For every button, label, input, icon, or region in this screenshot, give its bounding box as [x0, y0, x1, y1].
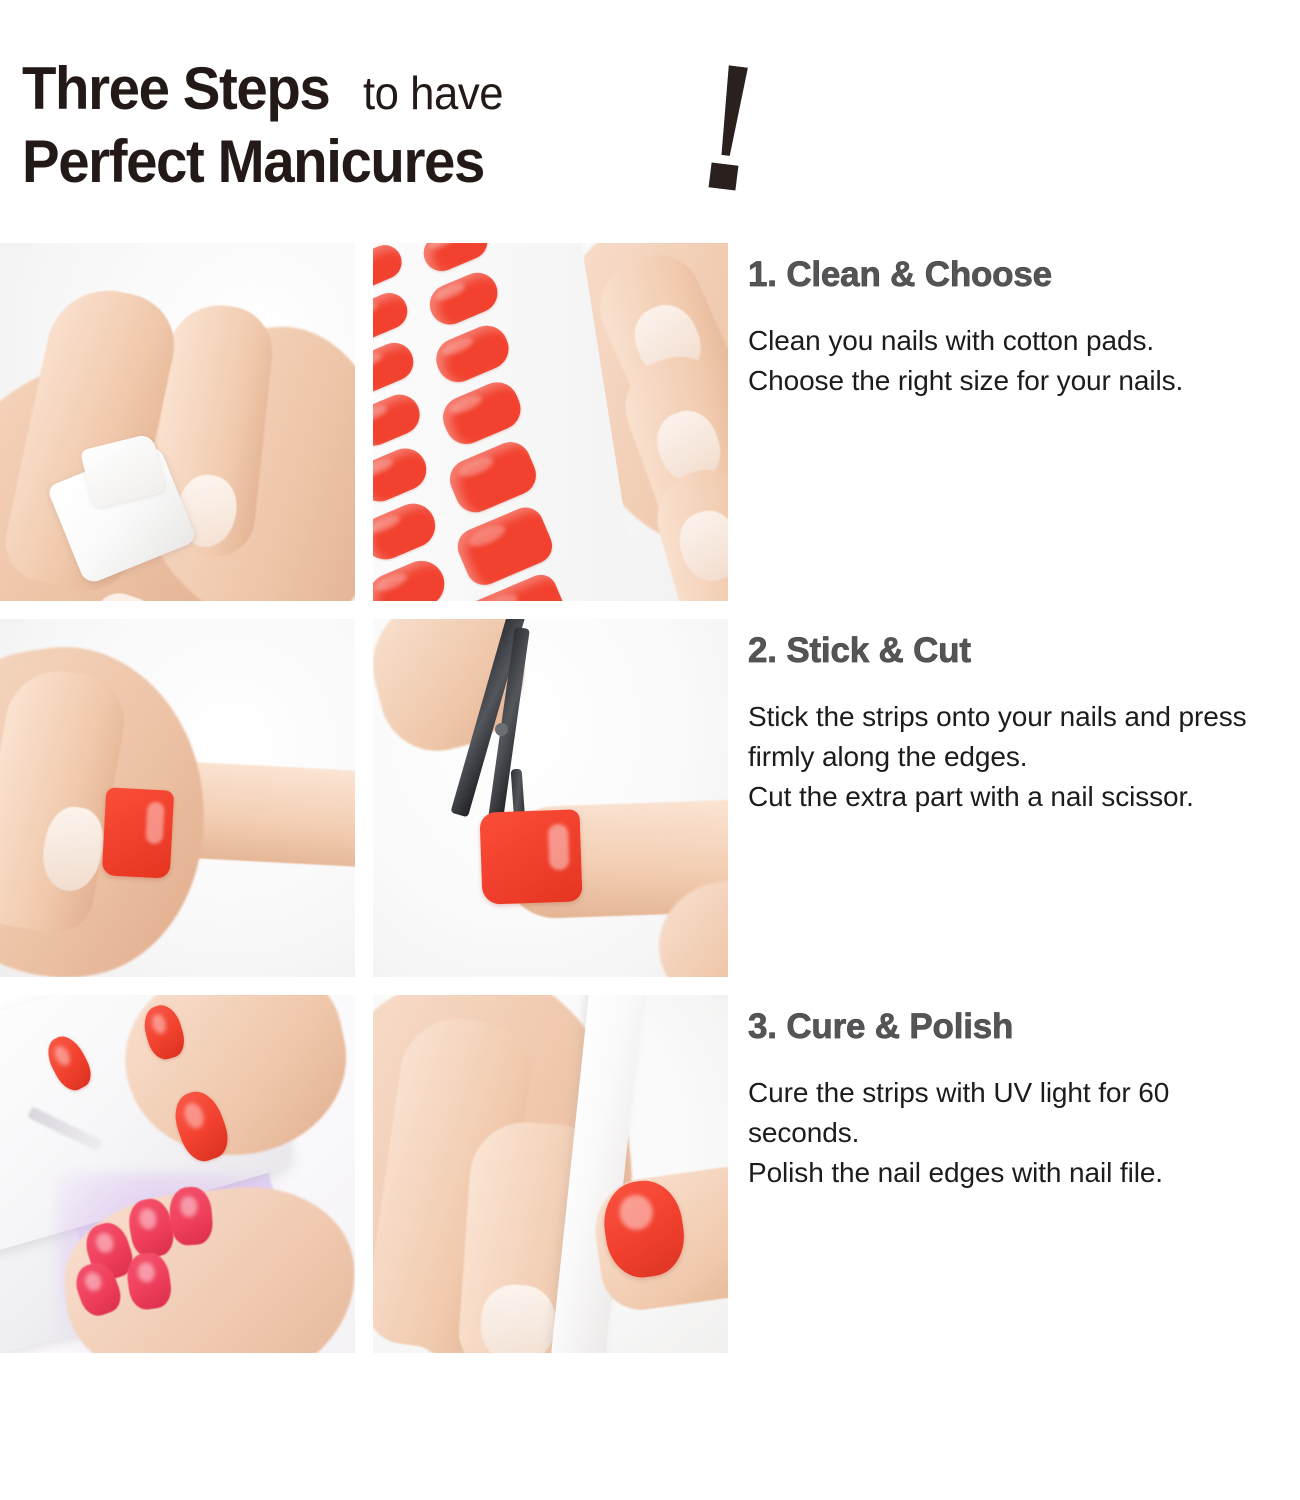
exclamation-stem — [711, 64, 748, 156]
step-1: 1. Clean & Choose Clean you nails with c… — [748, 255, 1288, 401]
step-2-title: 2. Stick & Cut — [748, 631, 1288, 671]
strip-tab — [373, 554, 451, 601]
exclamation-dot — [709, 162, 739, 190]
photo-curing-under-uv-lamp — [0, 995, 355, 1353]
photo-nail-strip-sheet — [373, 243, 728, 601]
red-nail-strip-excess — [479, 809, 582, 904]
step-1-title: 1. Clean & Choose — [748, 255, 1288, 295]
photo-strip-applied-to-nail — [0, 619, 355, 977]
photo-grid — [0, 243, 728, 1353]
strip-tab — [373, 442, 433, 508]
strip-tab — [430, 319, 515, 388]
strip-tab — [418, 243, 493, 277]
exclamation-mark-icon — [700, 66, 780, 196]
step-1-body: Clean you nails with cotton pads. Choose… — [748, 321, 1288, 401]
step-3-body: Cure the strips with UV light for 60 sec… — [748, 1073, 1288, 1192]
headline-line2-strong: Perfect Manicures — [22, 131, 484, 192]
headline-line1-light: to have — [363, 70, 503, 117]
step-2-body: Stick the strips onto your nails and pre… — [748, 697, 1288, 816]
scissor-pivot-screw — [495, 723, 508, 736]
red-nail-strip — [102, 787, 175, 878]
page-title: Three Stepsto have Perfect Manicures — [22, 58, 762, 192]
strip-tab — [437, 376, 528, 451]
strip-tab — [373, 497, 442, 566]
strip-tab — [444, 436, 542, 519]
photo-cleaning-nail-with-cotton-pad — [0, 243, 355, 601]
strip-tab — [373, 388, 426, 451]
step-3-title: 3. Cure & Polish — [748, 1007, 1288, 1047]
step-3: 3. Cure & Polish Cure the strips with UV… — [748, 1007, 1288, 1192]
photo-filing-nail-edge — [373, 995, 728, 1353]
strip-tab — [424, 267, 504, 331]
headline-line1-strong: Three Steps — [22, 58, 329, 119]
strip-tab — [373, 287, 413, 345]
photo-trimming-strip-with-scissors — [373, 619, 728, 977]
strip-tab — [373, 337, 419, 398]
step-2: 2. Stick & Cut Stick the strips onto you… — [748, 631, 1288, 816]
strip-tab — [373, 243, 407, 295]
